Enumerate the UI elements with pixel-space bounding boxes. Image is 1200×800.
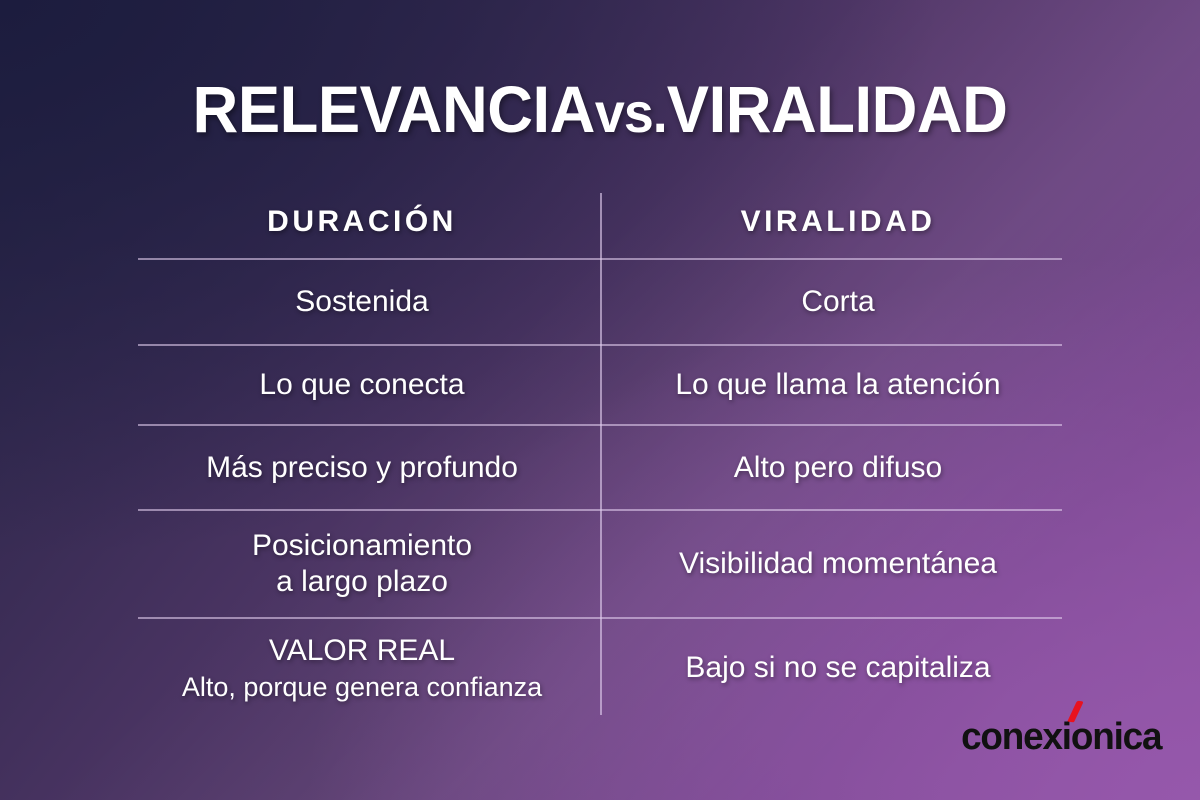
title-part-relevancia: RELEVANCIA (193, 72, 595, 146)
column-divider (600, 193, 602, 715)
cell-duracion-4-line1: Posicionamiento (252, 528, 472, 564)
cell-viralidad-4: Visibilidad momentánea (600, 511, 1062, 617)
cell-duracion-3: Más preciso y profundo (138, 426, 600, 509)
cell-duracion-5: VALOR REAL Alto, porque genera confianza (138, 619, 600, 717)
cell-duracion-5-subtitle: Alto, porque genera confianza (182, 671, 542, 703)
cell-duracion-1: Sostenida (138, 260, 600, 344)
cell-duracion-4: Posicionamiento a largo plazo (138, 511, 600, 617)
brand-logo: conexionica (958, 718, 1164, 756)
cell-viralidad-3: Alto pero difuso (600, 426, 1062, 509)
cell-viralidad-2: Lo que llama la atención (600, 346, 1062, 424)
title-part-viralidad: VIRALIDAD (667, 72, 1008, 146)
brand-logo-text: conexionica (961, 718, 1161, 756)
cell-viralidad-1: Corta (600, 260, 1062, 344)
column-header-viralidad: VIRALIDAD (600, 186, 1062, 258)
cell-duracion-2: Lo que conecta (138, 346, 600, 424)
page-title: RELEVANCIAvs.VIRALIDAD (24, 76, 1176, 142)
title-part-vs: vs. (595, 81, 667, 144)
column-header-duracion: DURACIÓN (138, 186, 600, 258)
poster-canvas: RELEVANCIAvs.VIRALIDAD DURACIÓN VIRALIDA… (0, 0, 1200, 800)
cell-viralidad-5: Bajo si no se capitaliza (600, 619, 1062, 717)
cell-duracion-5-title: VALOR REAL (269, 633, 455, 669)
cell-duracion-4-line2: a largo plazo (276, 564, 448, 600)
